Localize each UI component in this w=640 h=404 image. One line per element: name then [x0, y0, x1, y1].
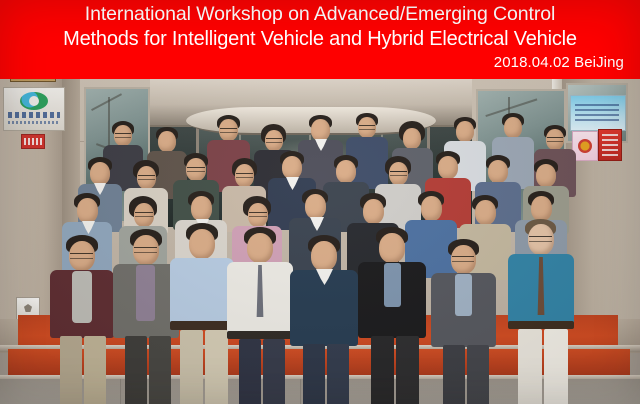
- group-photo: [0, 79, 640, 404]
- event-title: International Workshop on Advanced/Emerg…: [0, 2, 640, 52]
- plaque-chinese-text: [8, 112, 60, 118]
- building-name-plaque: [3, 87, 65, 131]
- event-title-line-1: International Workshop on Advanced/Emerg…: [0, 2, 640, 27]
- building-logo-icon: [20, 92, 48, 110]
- event-title-line-2: Methods for Intelligent Vehicle and Hybr…: [0, 27, 640, 52]
- wall-frame: [10, 79, 56, 82]
- red-certificate-plaque: [598, 129, 622, 161]
- event-banner: International Workshop on Advanced/Emerg…: [0, 0, 640, 79]
- screenshot-root: International Workshop on Advanced/Emerg…: [0, 0, 640, 404]
- blue-information-sign: [570, 95, 626, 131]
- red-notice-plaque: [21, 134, 45, 149]
- plaque-english-text: [8, 121, 60, 124]
- event-date-location: 2018.04.02 BeiJing: [494, 54, 624, 71]
